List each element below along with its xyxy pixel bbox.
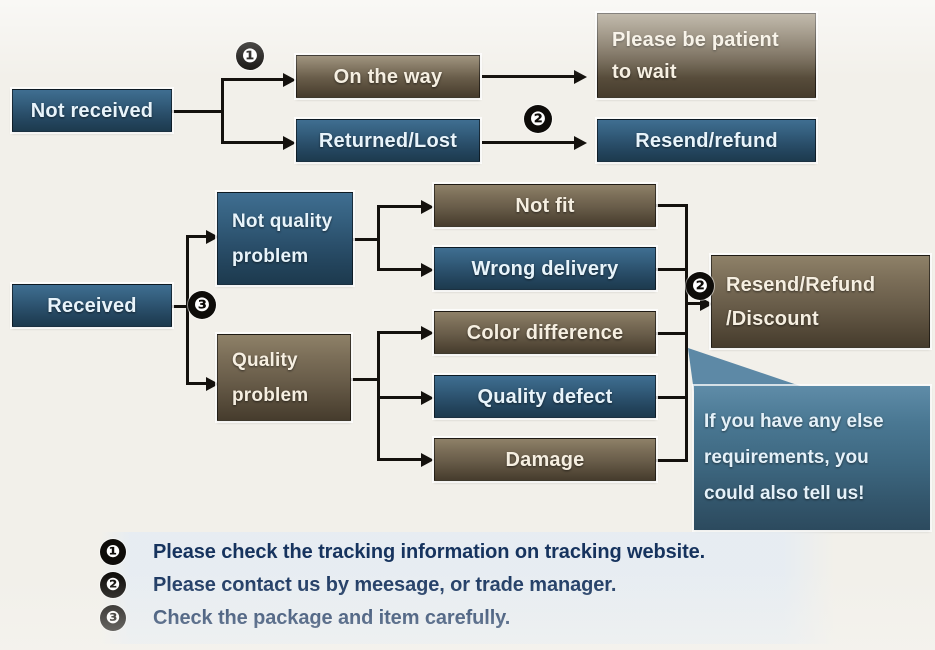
badge-1-top: ❶ <box>236 42 264 70</box>
node-quality-problem-line2: problem <box>232 386 308 405</box>
badge-3-mid: ❸ <box>188 291 216 319</box>
arrowhead-returned-lost <box>283 136 296 150</box>
node-resend-refund-discount-line1: Resend/Refund <box>726 275 875 295</box>
arrowhead-not-fit <box>421 200 434 214</box>
arrowhead-damage <box>421 453 434 467</box>
node-not-received[interactable]: Not received <box>12 89 172 132</box>
legend-badge-2: ❷ <box>100 572 126 598</box>
legend-text-2: Please contact us by meesage, or trade m… <box>153 574 616 597</box>
node-quality-problem[interactable]: Quality problem <box>217 334 351 421</box>
connector-color-difference-merge <box>656 332 688 335</box>
node-damage-label: Damage <box>505 450 584 470</box>
node-not-quality-problem-line2: problem <box>232 247 308 266</box>
connector-to-on-the-way <box>221 78 283 81</box>
node-quality-problem-line1: Quality <box>232 351 298 370</box>
node-please-be-patient-line2: to wait <box>612 62 677 82</box>
connector-returned-to-resend <box>482 141 574 144</box>
connector-wrong-delivery-merge <box>656 268 688 271</box>
connector-not-quality-bus <box>377 205 380 271</box>
speech-bubble: If you have any else requirements, you c… <box>694 386 930 530</box>
node-please-be-patient[interactable]: Please be patient to wait <box>597 13 816 98</box>
node-color-difference-label: Color difference <box>467 323 624 343</box>
node-resend-refund-discount-line2: /Discount <box>726 309 819 329</box>
node-resend-refund-discount[interactable]: Resend/Refund /Discount <box>711 255 930 348</box>
arrowhead-color-difference <box>421 326 434 340</box>
node-resend-refund-label: Resend/refund <box>635 131 778 151</box>
legend-item-1: ❶ Please check the tracking information … <box>100 536 705 568</box>
badge-2-top: ❷ <box>524 105 552 133</box>
connector-to-quality-defect <box>377 396 423 399</box>
node-not-fit-label: Not fit <box>515 196 574 216</box>
node-wrong-delivery[interactable]: Wrong delivery <box>434 247 656 290</box>
speech-bubble-line2: requirements, you <box>704 447 930 469</box>
connector-damage-merge <box>656 459 688 462</box>
badge-2-top-label: ❷ <box>530 108 546 131</box>
node-resend-refund[interactable]: Resend/refund <box>597 119 816 162</box>
badge-3-mid-label: ❸ <box>194 294 210 317</box>
legend-item-3: ❸ Check the package and item carefully. <box>100 602 510 634</box>
connector-to-damage <box>377 458 423 461</box>
node-returned-lost-label: Returned/Lost <box>319 131 457 151</box>
node-please-be-patient-line1: Please be patient <box>612 30 779 50</box>
connector-not-received-stem <box>172 110 224 113</box>
connector-to-wrong-delivery <box>377 268 423 271</box>
legend-text-1: Please check the tracking information on… <box>153 541 705 564</box>
badge-2-right: ❷ <box>686 272 714 300</box>
legend: ❶ Please check the tracking information … <box>100 532 835 644</box>
badge-2-right-label: ❷ <box>692 275 708 298</box>
legend-badge-1: ❶ <box>100 539 126 565</box>
arrowhead-please-be-patient <box>574 70 587 84</box>
flowchart-canvas: Not received On the way Returned/Lost Pl… <box>0 0 935 650</box>
arrowhead-quality-defect <box>421 391 434 405</box>
node-not-received-label: Not received <box>31 101 153 121</box>
node-on-the-way-label: On the way <box>334 67 443 87</box>
node-on-the-way[interactable]: On the way <box>296 55 480 98</box>
speech-bubble-line3: could also tell us! <box>704 483 930 505</box>
connector-not-received-split <box>221 78 224 144</box>
arrowhead-wrong-delivery <box>421 263 434 277</box>
arrowhead-on-the-way <box>283 73 296 87</box>
node-not-quality-problem[interactable]: Not quality problem <box>217 192 353 285</box>
legend-item-2: ❷ Please contact us by meesage, or trade… <box>100 569 616 601</box>
connector-to-returned-lost <box>221 141 283 144</box>
connector-quality-out <box>350 378 380 381</box>
legend-text-3: Check the package and item carefully. <box>153 607 510 630</box>
connector-not-fit-merge <box>656 204 688 207</box>
badge-1-top-label: ❶ <box>242 45 258 68</box>
connector-to-not-fit <box>377 205 423 208</box>
node-color-difference[interactable]: Color difference <box>434 311 656 354</box>
node-quality-defect[interactable]: Quality defect <box>434 375 656 418</box>
node-quality-defect-label: Quality defect <box>477 387 612 407</box>
node-damage[interactable]: Damage <box>434 438 656 481</box>
node-not-quality-problem-line1: Not quality <box>232 212 332 231</box>
connector-not-quality-out <box>352 238 380 241</box>
connector-quality-defect-merge <box>656 396 688 399</box>
node-received-label: Received <box>47 296 136 316</box>
arrowhead-resend-refund <box>574 136 587 150</box>
legend-badge-3: ❸ <box>100 605 126 631</box>
node-received[interactable]: Received <box>12 284 172 327</box>
node-wrong-delivery-label: Wrong delivery <box>472 259 619 279</box>
connector-right-merge-bus <box>685 204 688 462</box>
node-not-fit[interactable]: Not fit <box>434 184 656 227</box>
speech-bubble-line1: If you have any else <box>704 411 930 433</box>
node-returned-lost[interactable]: Returned/Lost <box>296 119 480 162</box>
connector-to-color-difference <box>377 331 423 334</box>
connector-on-the-way-to-patient <box>482 75 574 78</box>
